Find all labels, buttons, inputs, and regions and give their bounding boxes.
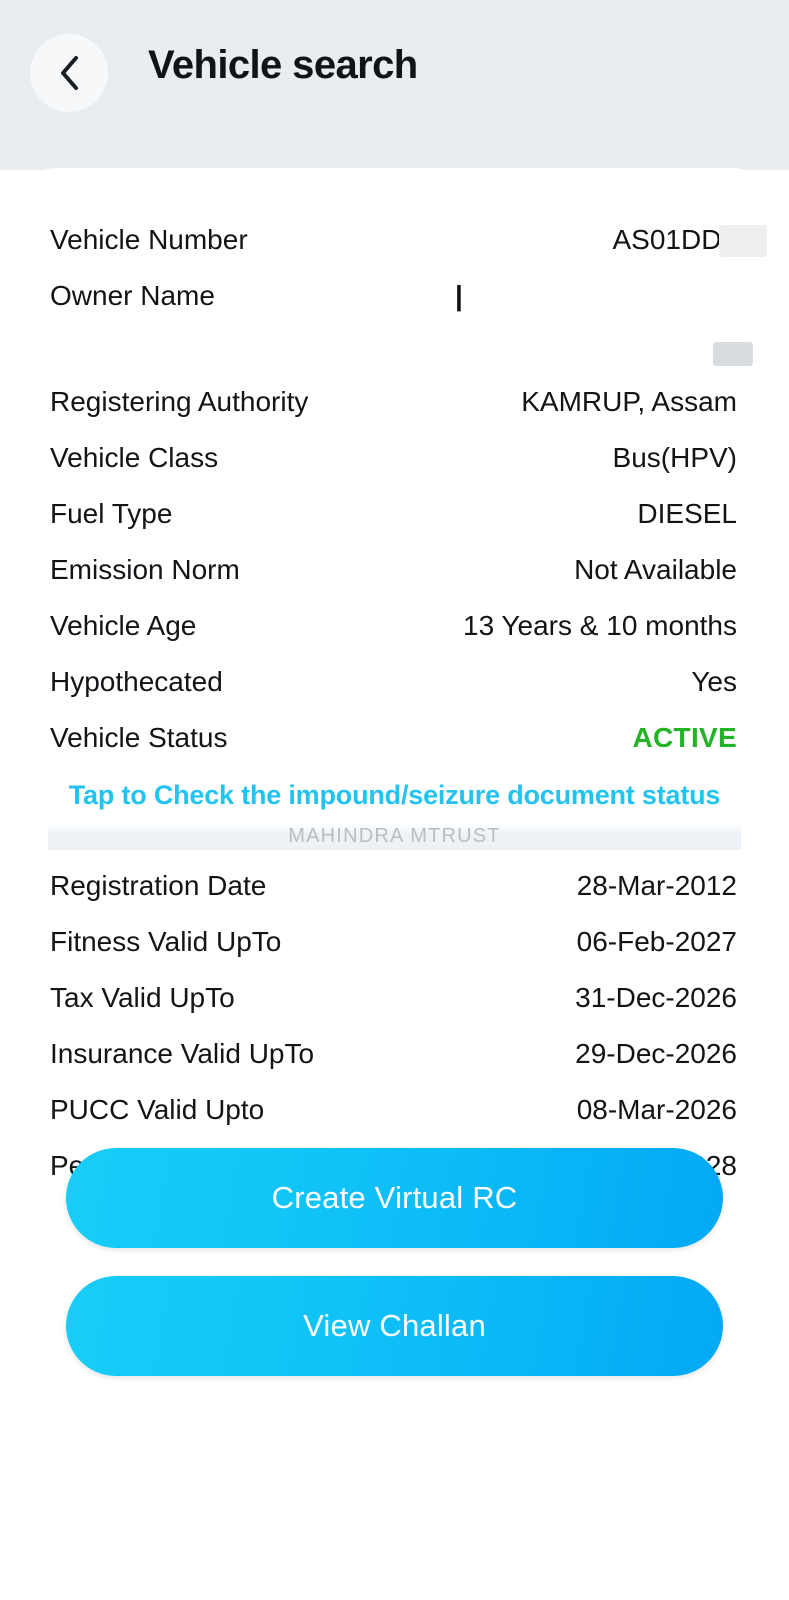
primary-details-list: Vehicle Number AS01DD6 Owner Name | Regi… <box>0 212 789 1194</box>
detail-value: 13 Years & 10 months <box>463 598 737 654</box>
detail-label: PUCC Valid Upto <box>50 1082 264 1138</box>
redaction-block-vehicle-number <box>719 225 767 257</box>
detail-value: Yes <box>691 654 737 710</box>
detail-value: DIESEL <box>637 486 737 542</box>
chevron-left-icon <box>56 54 82 92</box>
detail-row-vehicle-age: Vehicle Age 13 Years & 10 months <box>0 598 789 654</box>
page-title: Vehicle search <box>148 43 418 88</box>
watermark-text: MAHINDRA MTRUST <box>288 825 500 848</box>
detail-label: Vehicle Number <box>50 212 248 268</box>
detail-label: Fitness Valid UpTo <box>50 914 281 970</box>
detail-value: 28-Mar-2012 <box>577 858 737 914</box>
redaction-row-owner <box>0 324 789 374</box>
detail-label: Hypothecated <box>50 654 223 710</box>
watermark-band: MAHINDRA MTRUST <box>48 824 741 850</box>
detail-row-registering-authority: Registering Authority KAMRUP, Assam <box>0 374 789 430</box>
detail-row-emission-norm: Emission Norm Not Available <box>0 542 789 598</box>
detail-label: Registration Date <box>50 858 266 914</box>
action-buttons: Create Virtual RC View Challan <box>0 1148 789 1376</box>
detail-row-registration-date: Registration Date 28-Mar-2012 <box>0 858 789 914</box>
detail-label: Emission Norm <box>50 542 240 598</box>
detail-label: Vehicle Class <box>50 430 218 486</box>
detail-row-hypothecated: Hypothecated Yes <box>0 654 789 710</box>
detail-label: Vehicle Status <box>50 710 227 766</box>
detail-value: KAMRUP, Assam <box>521 374 737 430</box>
detail-label: Insurance Valid UpTo <box>50 1026 314 1082</box>
detail-row-vehicle-number: Vehicle Number AS01DD6 <box>0 212 789 268</box>
impound-status-link-row: Tap to Check the impound/seizure documen… <box>0 766 789 824</box>
detail-row-fitness-valid: Fitness Valid UpTo 06-Feb-2027 <box>0 914 789 970</box>
detail-row-pucc-valid: PUCC Valid Upto 08-Mar-2026 <box>0 1082 789 1138</box>
redaction-block-owner-name <box>713 342 753 366</box>
detail-row-fuel-type: Fuel Type DIESEL <box>0 486 789 542</box>
detail-label: Registering Authority <box>50 374 308 430</box>
spacer <box>0 1248 789 1276</box>
status-badge: ACTIVE <box>633 710 737 766</box>
detail-value: 08-Mar-2026 <box>577 1082 737 1138</box>
vehicle-search-screen: Vehicle search Vehicle Number AS01DD6 Ow… <box>0 0 789 1600</box>
app-header: Vehicle search <box>0 0 789 170</box>
view-challan-button[interactable]: View Challan <box>66 1276 723 1376</box>
detail-value: 29-Dec-2026 <box>575 1026 737 1082</box>
detail-label: Fuel Type <box>50 486 172 542</box>
detail-row-insurance-valid: Insurance Valid UpTo 29-Dec-2026 <box>0 1026 789 1082</box>
detail-value: 31-Dec-2026 <box>575 970 737 1026</box>
detail-value: Bus(HPV) <box>613 430 737 486</box>
detail-row-owner-name: Owner Name | <box>0 268 789 324</box>
detail-value: | <box>455 268 463 324</box>
detail-row-vehicle-status: Vehicle Status ACTIVE <box>0 710 789 766</box>
detail-value: Not Available <box>574 542 737 598</box>
detail-label: Owner Name <box>50 268 215 324</box>
detail-row-tax-valid: Tax Valid UpTo 31-Dec-2026 <box>0 970 789 1026</box>
detail-label: Vehicle Age <box>50 598 196 654</box>
detail-label: Tax Valid UpTo <box>50 970 235 1026</box>
detail-value: 06-Feb-2027 <box>577 914 737 970</box>
vehicle-details-card: Vehicle Number AS01DD6 Owner Name | Regi… <box>0 168 789 1600</box>
impound-status-link[interactable]: Tap to Check the impound/seizure documen… <box>69 780 720 811</box>
create-virtual-rc-button[interactable]: Create Virtual RC <box>66 1148 723 1248</box>
spacer <box>0 850 789 858</box>
back-button[interactable] <box>30 34 108 112</box>
detail-row-vehicle-class: Vehicle Class Bus(HPV) <box>0 430 789 486</box>
